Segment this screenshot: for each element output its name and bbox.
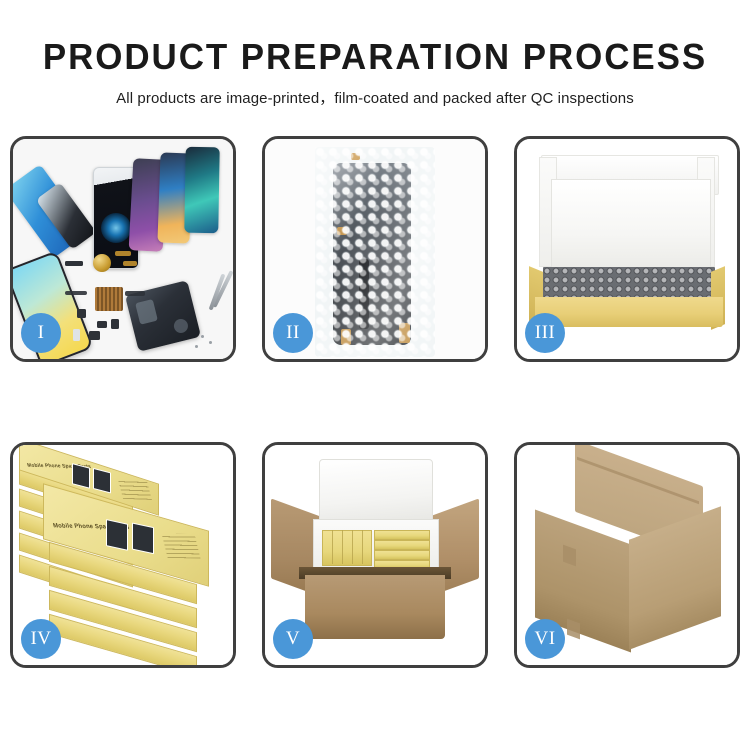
speaker-coil-part [93, 254, 111, 272]
box-phone-image [93, 468, 111, 494]
step-panel-4[interactable]: Mobile Phone Spare Parts Mobile Phone Sp… [10, 442, 236, 668]
yellow-box-row [374, 540, 430, 550]
step-panel-2[interactable]: II [262, 136, 488, 362]
foam-cooler-body [313, 519, 439, 573]
step-panel-6[interactable]: VI [514, 442, 740, 668]
chip-part [97, 321, 107, 328]
step-badge-2: II [273, 313, 313, 353]
bubble-wrap-bag [315, 147, 435, 357]
box-divider [342, 530, 343, 564]
step-badge-3: III [525, 313, 565, 353]
header: PRODUCT PREPARATION PROCESS All products… [0, 0, 750, 108]
flex-cable-part [123, 261, 137, 266]
box-phone-image [106, 519, 128, 551]
carton-body [305, 575, 445, 639]
chip-part [73, 329, 80, 341]
step-panel-3[interactable]: III [514, 136, 740, 362]
chip-part [77, 309, 86, 318]
box-spec-lines [118, 480, 152, 500]
flex-cable-part [115, 251, 131, 256]
chip-part [111, 319, 119, 329]
box-divider [352, 530, 353, 564]
screw-part [209, 341, 212, 344]
box-front-yellow [535, 297, 723, 327]
yellow-box-group-left [322, 530, 372, 566]
flex-cable-part [125, 291, 145, 296]
screw-part [201, 335, 204, 338]
screen-teal [184, 147, 219, 234]
step-badge-5: V [273, 619, 313, 659]
page-subtitle: All products are image-printed，film-coat… [0, 87, 750, 108]
screw-part [195, 345, 198, 348]
wallpaper-swirl-icon [101, 213, 131, 243]
step-panel-1[interactable]: I [10, 136, 236, 362]
connector-grid-part [95, 287, 123, 311]
process-step-grid: I II [0, 136, 750, 668]
step-badge-6: VI [525, 619, 565, 659]
step-panel-5[interactable]: V [262, 442, 488, 668]
plastic-sheen [315, 147, 435, 357]
flex-cable-part [65, 291, 87, 295]
box-spec-lines [161, 533, 200, 559]
white-foam-sheet [551, 179, 711, 271]
foam-cooler-lid [319, 459, 433, 525]
box-divider [362, 530, 363, 564]
yellow-box-row [374, 530, 430, 540]
step-badge-1: I [21, 313, 61, 353]
yellow-box-row [374, 550, 430, 560]
box-divider [332, 530, 333, 564]
carton-tape-lower [567, 619, 580, 640]
chip-part [65, 261, 83, 266]
product-preparation-infographic: PRODUCT PREPARATION PROCESS All products… [0, 0, 750, 750]
step-badge-4: IV [21, 619, 61, 659]
page-title: PRODUCT PREPARATION PROCESS [11, 38, 739, 76]
box-phone-image [132, 522, 154, 554]
gray-bubble-wrap-layer [543, 267, 715, 299]
box-phone-image [72, 463, 90, 489]
chip-part [89, 331, 100, 340]
